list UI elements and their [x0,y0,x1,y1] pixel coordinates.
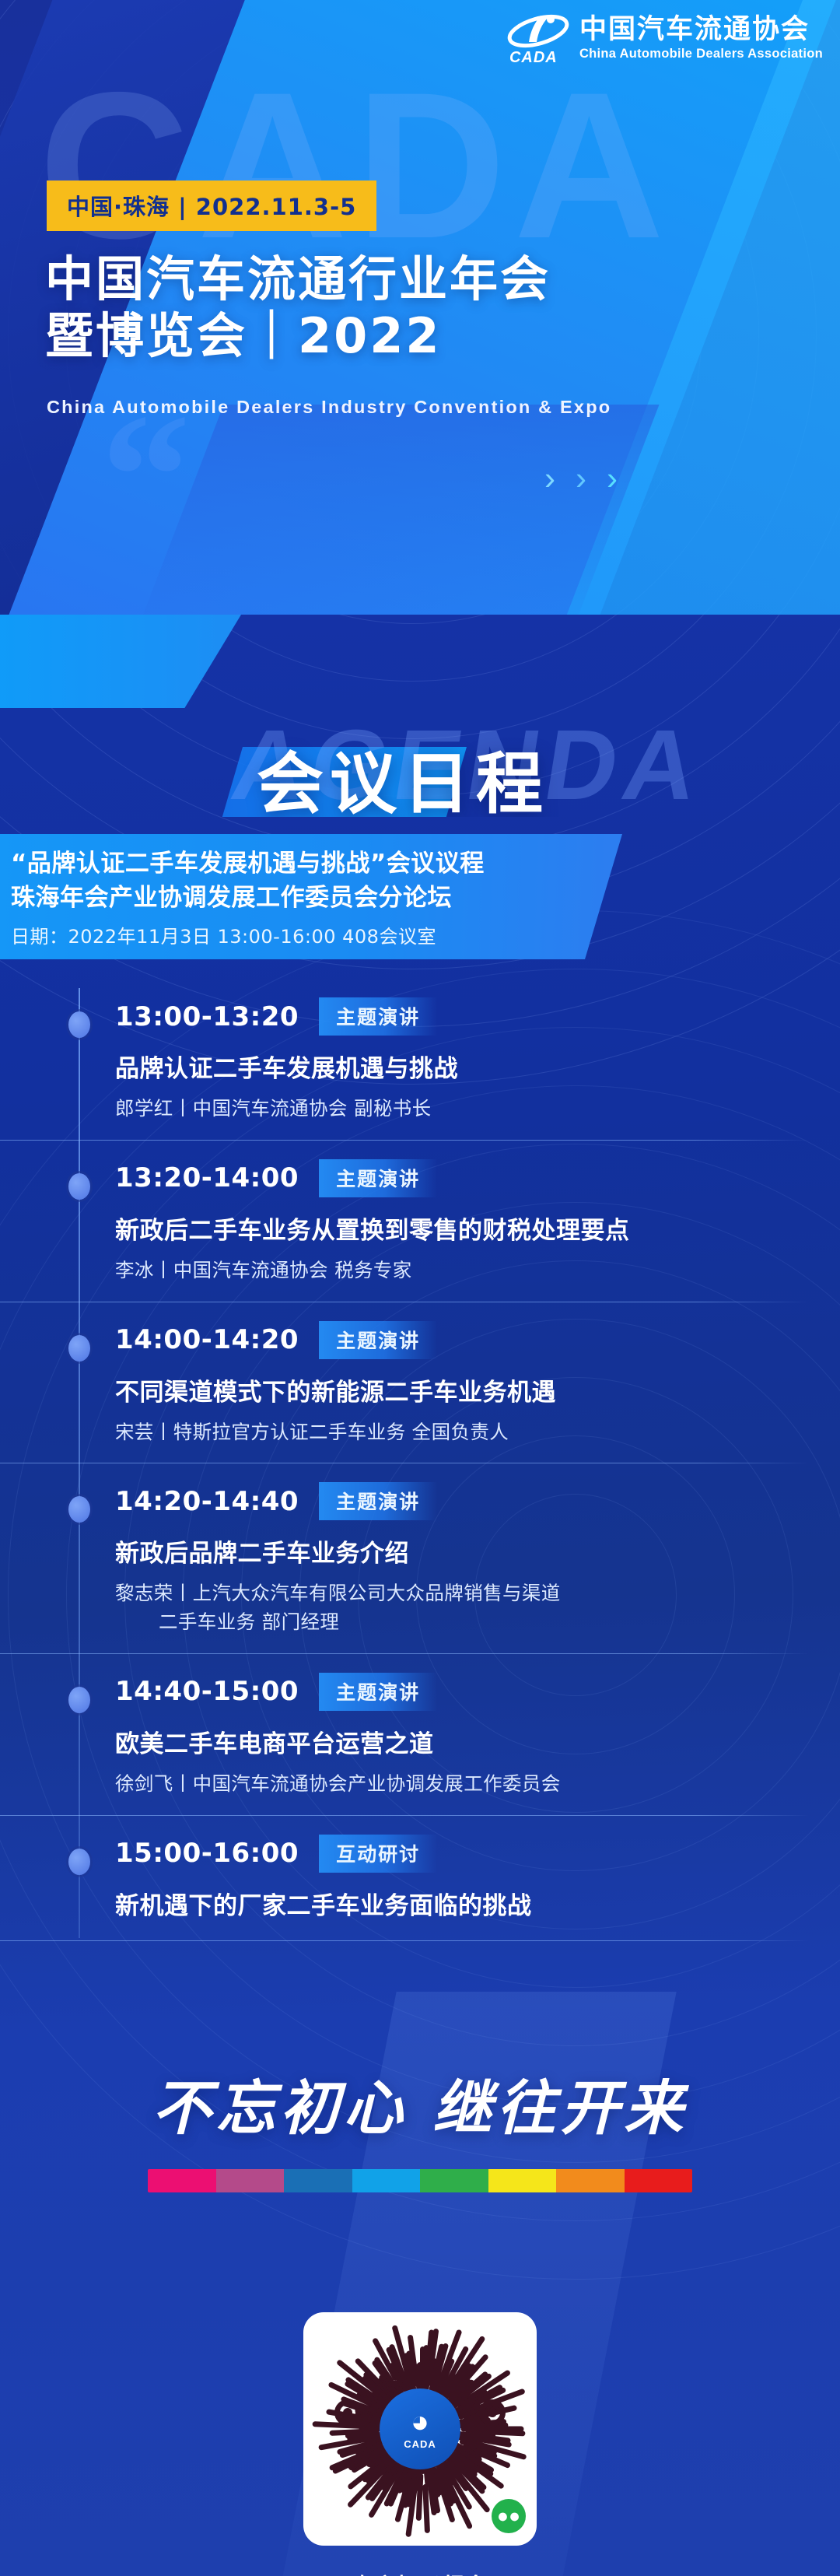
agenda-item-time: 15:00-16:00 [115,1838,299,1869]
event-title-line1: 中国汽车流通行业年会 [45,251,551,307]
agenda-item: 13:20-14:00主题演讲新政后二手车业务从置换到零售的财税处理要点李冰丨中… [0,1141,840,1302]
agenda-item-title: 新机遇下的厂家二手车业务面临的挑战 [115,1886,793,1921]
agenda-item-tag: 主题演讲 [319,997,437,1036]
agenda-item-speaker: 黎志荣丨上汽大众汽车有限公司大众品牌销售与渠道二手车业务 部门经理 [115,1579,793,1637]
agenda-heading: 会议日程 [257,751,549,817]
chevron-right-icon-2: › [576,462,586,495]
agenda-item-separator [0,1940,809,1941]
timeline-dot-icon [68,1687,90,1713]
agenda-item-time: 13:00-13:20 [115,1001,299,1032]
chevron-right-icon-3: › [607,462,618,495]
poster-canvas: CADA “ CADA 中国汽车流通协会 China Automobile De… [0,0,840,2576]
agenda-item-header: 15:00-16:00互动研讨 [115,1835,793,1873]
agenda-item-speaker: 郎学红丨中国汽车流通协会 副秘书长 [115,1095,793,1123]
timeline-dot-icon [68,1011,90,1038]
agenda-item-header: 14:00-14:20主题演讲 [115,1321,793,1359]
timeline-dot-icon [68,1335,90,1362]
rainbow-segment-2 [216,2169,285,2192]
session-banner: “品牌认证二手车发展机遇与挑战”会议议程 珠海年会产业协调发展工作委员会分论坛 … [0,834,622,959]
agenda-item-time: 13:20-14:00 [115,1162,299,1193]
cada-logo: CADA 中国汽车流通协会 China Automobile Dealers A… [506,11,823,65]
agenda-list: 13:00-13:20主题演讲品牌认证二手车发展机遇与挑战郎学红丨中国汽车流通协… [0,979,840,1938]
agenda-item-speaker-line1: 徐剑飞丨中国汽车流通协会产业协调发展工作委员会 [115,1772,561,1795]
timeline-dot-icon [68,1496,90,1523]
rainbow-segment-6 [488,2169,557,2192]
rainbow-segment-7 [556,2169,625,2192]
agenda-item-title: 新政后品牌二手车业务介绍 [115,1533,793,1568]
poster-header: CADA “ CADA 中国汽车流通协会 China Automobile De… [0,0,840,615]
agenda-item-speaker-line1: 黎志荣丨上汽大众汽车有限公司大众品牌销售与渠道 [115,1582,561,1604]
agenda-item-tag: 主题演讲 [319,1482,437,1520]
agenda-item-time: 14:00-14:20 [115,1324,299,1355]
logo-name-en: China Automobile Dealers Association [579,47,823,61]
agenda-item-title: 新政后二手车业务从置换到零售的财税处理要点 [115,1211,793,1246]
agenda-item-title: 不同渠道模式下的新能源二手车业务机遇 [115,1372,793,1407]
footer-slogan: 不忘初心 继往开来 [0,2060,840,2146]
cada-watermark: CADA [39,61,672,269]
agenda-item-speaker-line1: 宋芸丨特斯拉官方认证二手车业务 全国负责人 [115,1421,509,1443]
chevron-decoration: › › › [544,462,618,495]
agenda-item-time: 14:40-15:00 [115,1676,299,1707]
session-banner-line2: 珠海年会产业协调发展工作委员会分论坛 [11,881,622,915]
event-date-badge: 中国·珠海 | 2022.11.3-5 [47,180,376,231]
agenda-item-speaker-line1: 李冰丨中国汽车流通协会 税务专家 [115,1259,412,1281]
rainbow-segment-1 [148,2169,216,2192]
agenda-item: 14:40-15:00主题演讲欧美二手车电商平台运营之道徐剑飞丨中国汽车流通协会… [0,1654,840,1816]
agenda-item-title: 欧美二手车电商平台运营之道 [115,1724,793,1759]
rainbow-divider [148,2169,692,2192]
agenda-item-speaker: 徐剑飞丨中国汽车流通协会产业协调发展工作委员会 [115,1770,793,1799]
agenda-item-header: 13:00-13:20主题演讲 [115,997,793,1036]
chevron-right-icon-1: › [544,462,555,495]
agenda-item-tag: 主题演讲 [319,1321,437,1359]
agenda-item-speaker: 宋芸丨特斯拉官方认证二手车业务 全国负责人 [115,1418,793,1447]
logo-name-cn: 中国汽车流通协会 [579,15,823,45]
rainbow-segment-5 [420,2169,488,2192]
agenda-item: 13:00-13:20主题演讲品牌认证二手车发展机遇与挑战郎学红丨中国汽车流通协… [0,979,840,1141]
session-banner-line1: “品牌认证二手车发展机遇与挑战”会议议程 [11,846,622,881]
agenda-item-tag: 互动研讨 [319,1835,437,1873]
agenda-item-tag: 主题演讲 [319,1159,437,1197]
agenda-shape-left [0,615,241,708]
rainbow-segment-8 [625,2169,693,2192]
qr-eye-left-icon [334,2399,361,2426]
timeline-dot-icon [68,1849,90,1875]
qr-caption: 欢迎扫码报名 [0,2569,840,2576]
agenda-item-time: 14:20-14:40 [115,1486,299,1517]
agenda-item: 14:20-14:40主题演讲新政后品牌二手车业务介绍黎志荣丨上汽大众汽车有限公… [0,1463,840,1654]
agenda-item: 15:00-16:00互动研讨新机遇下的厂家二手车业务面临的挑战 [0,1816,840,1938]
hero-accent-strip [134,405,659,615]
agenda-item-header: 14:20-14:40主题演讲 [115,1482,793,1520]
agenda-item-speaker: 李冰丨中国汽车流通协会 税务专家 [115,1256,793,1285]
agenda-item-header: 13:20-14:00主题演讲 [115,1159,793,1197]
timeline-dot-icon [68,1173,90,1200]
wechat-icon: ●● [492,2499,526,2533]
qr-logo-glyph: ◕ [411,2408,429,2436]
agenda-item: 14:00-14:20主题演讲不同渠道模式下的新能源二手车业务机遇宋芸丨特斯拉官… [0,1302,840,1464]
event-title: 中国汽车流通行业年会 暨博览会｜2022 [45,251,551,364]
agenda-title-section: AGENDA 会议日程 [0,615,840,817]
agenda-item-speaker-line2: 二手车业务 部门经理 [115,1608,793,1637]
qr-code[interactable]: ◕ CADA ●● [303,2312,537,2546]
rainbow-segment-3 [284,2169,352,2192]
poster-footer: 不忘初心 继往开来 ◕ CADA ●● 欢迎扫码报名 [0,1992,840,2576]
event-title-en: China Automobile Dealers Industry Conven… [47,397,611,418]
qr-center-logo-icon: ◕ CADA [380,2388,460,2469]
agenda-item-tag: 主题演讲 [319,1673,437,1711]
quote-decoration: “ [101,405,191,548]
event-title-line2: 暨博览会｜2022 [45,307,551,364]
qr-eye-right-icon [479,2399,506,2426]
agenda-item-speaker-line1: 郎学红丨中国汽车流通协会 副秘书长 [115,1097,432,1120]
agenda-item-header: 14:40-15:00主题演讲 [115,1673,793,1711]
qr-logo-text: CADA [404,2438,436,2450]
session-banner-date: 日期：2022年11月3日 13:00-16:00 408会议室 [11,921,622,948]
cada-logo-mark-text: CADA [509,49,558,67]
cada-logo-mark-icon: CADA [506,11,570,65]
agenda-item-title: 品牌认证二手车发展机遇与挑战 [115,1049,793,1084]
rainbow-segment-4 [352,2169,421,2192]
